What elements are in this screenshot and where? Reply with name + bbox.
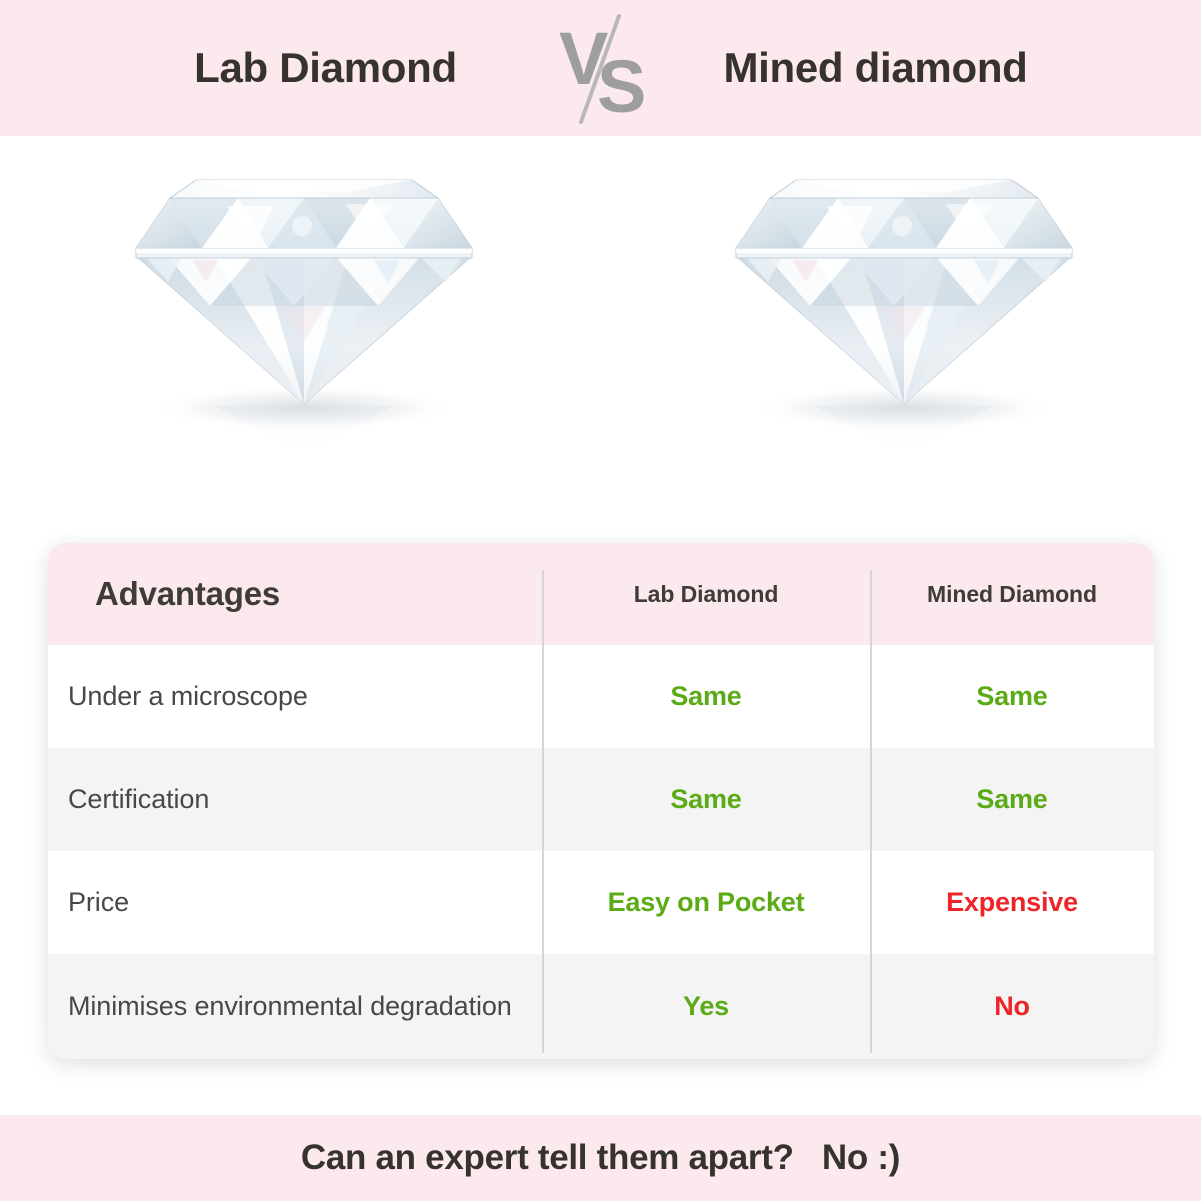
row-lab-value: Same	[542, 645, 870, 748]
comparison-table: Advantages Lab Diamond Mined Diamond Und…	[48, 543, 1154, 1059]
versus-icon: V S	[541, 8, 661, 128]
expert-question-text: Can an expert tell them apart? No :)	[301, 1138, 900, 1178]
table-row: Certification Same Same	[48, 748, 1154, 851]
column-header-advantages: Advantages	[48, 543, 542, 645]
row-mined-value: No	[870, 954, 1154, 1059]
top-banner: Lab Diamond V S Mined diamond	[0, 0, 1201, 136]
table-row: Price Easy on Pocket Expensive	[48, 851, 1154, 954]
row-mined-value: Same	[870, 748, 1154, 851]
lab-diamond-title: Lab Diamond	[111, 44, 541, 92]
row-lab-value: Yes	[542, 954, 870, 1059]
column-header-lab-diamond: Lab Diamond	[542, 543, 870, 645]
row-lab-value: Same	[542, 748, 870, 851]
bottom-banner: Can an expert tell them apart? No :)	[0, 1115, 1201, 1201]
mined-diamond-title: Mined diamond	[661, 44, 1091, 92]
row-feature-label: Certification	[48, 748, 542, 851]
comparison-card: Advantages Lab Diamond Mined Diamond Und…	[48, 543, 1154, 1059]
table-row: Under a microscope Same Same	[48, 645, 1154, 748]
diamond-image-row	[0, 136, 1201, 536]
table-row: Minimises environmental degradation Yes …	[48, 954, 1154, 1059]
row-mined-value: Expensive	[870, 851, 1154, 954]
table-header: Advantages Lab Diamond Mined Diamond	[48, 543, 1154, 645]
row-lab-value: Easy on Pocket	[542, 851, 870, 954]
column-header-mined-diamond: Mined Diamond	[870, 543, 1154, 645]
table-header-row: Advantages Lab Diamond Mined Diamond	[48, 543, 1154, 645]
row-feature-label: Minimises environmental degradation	[48, 954, 542, 1059]
row-mined-value: Same	[870, 645, 1154, 748]
table-body: Under a microscope Same Same Certificati…	[48, 645, 1154, 1059]
mined-diamond-image	[601, 136, 1201, 536]
row-feature-label: Price	[48, 851, 542, 954]
lab-diamond-image	[1, 136, 601, 536]
row-feature-label: Under a microscope	[48, 645, 542, 748]
